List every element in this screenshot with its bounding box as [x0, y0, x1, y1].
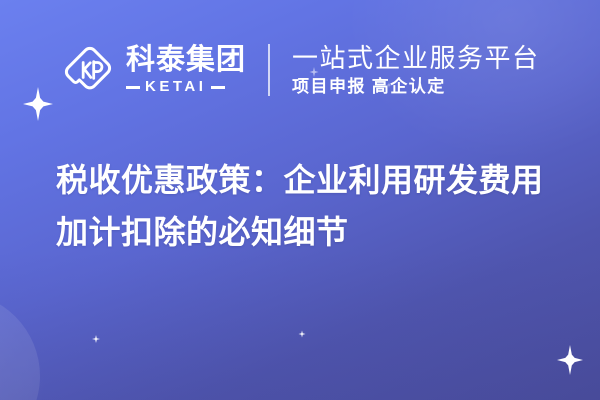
- tagline-block: 一站式企业服务平台 项目申报 高企认定: [292, 43, 540, 97]
- page-title-line-2: 加计扣除的必知细节: [56, 206, 566, 258]
- promo-banner: 科泰集团 KETAI 一站式企业服务平台 项目申报 高企认定 税收优惠政策：企业…: [0, 0, 600, 400]
- circle-bottom-left-glow: [0, 278, 64, 400]
- brand-name-cn: 科泰集团: [126, 45, 246, 76]
- sparkle-bottom-right-icon: [557, 345, 583, 375]
- circle-bottom-left: [0, 292, 40, 400]
- tagline-primary: 一站式企业服务平台: [292, 43, 540, 73]
- diamond-dot-left-icon: [92, 335, 100, 343]
- bottom-vignette: [0, 250, 600, 400]
- brand-name-en-row: KETAI: [126, 79, 246, 95]
- page-title-line-1: 税收优惠政策：企业利用研发费用: [56, 154, 566, 206]
- brand-lockup: 科泰集团 KETAI: [60, 42, 246, 98]
- brand-rule-right-icon: [211, 86, 225, 89]
- ketai-diamond-kp-logo-icon: [60, 42, 116, 98]
- brand-name-en: KETAI: [145, 79, 206, 95]
- page-title: 税收优惠政策：企业利用研发费用 加计扣除的必知细节: [56, 154, 566, 258]
- banner-header: 科泰集团 KETAI 一站式企业服务平台 项目申报 高企认定: [0, 34, 600, 106]
- header-divider: [268, 44, 270, 96]
- diamond-dot-center-icon: [299, 331, 306, 338]
- brand-text-block: 科泰集团 KETAI: [126, 45, 246, 95]
- sparkle-header-icon: [23, 87, 53, 121]
- brand-rule-left-icon: [126, 86, 140, 89]
- tagline-secondary: 项目申报 高企认定: [292, 77, 540, 97]
